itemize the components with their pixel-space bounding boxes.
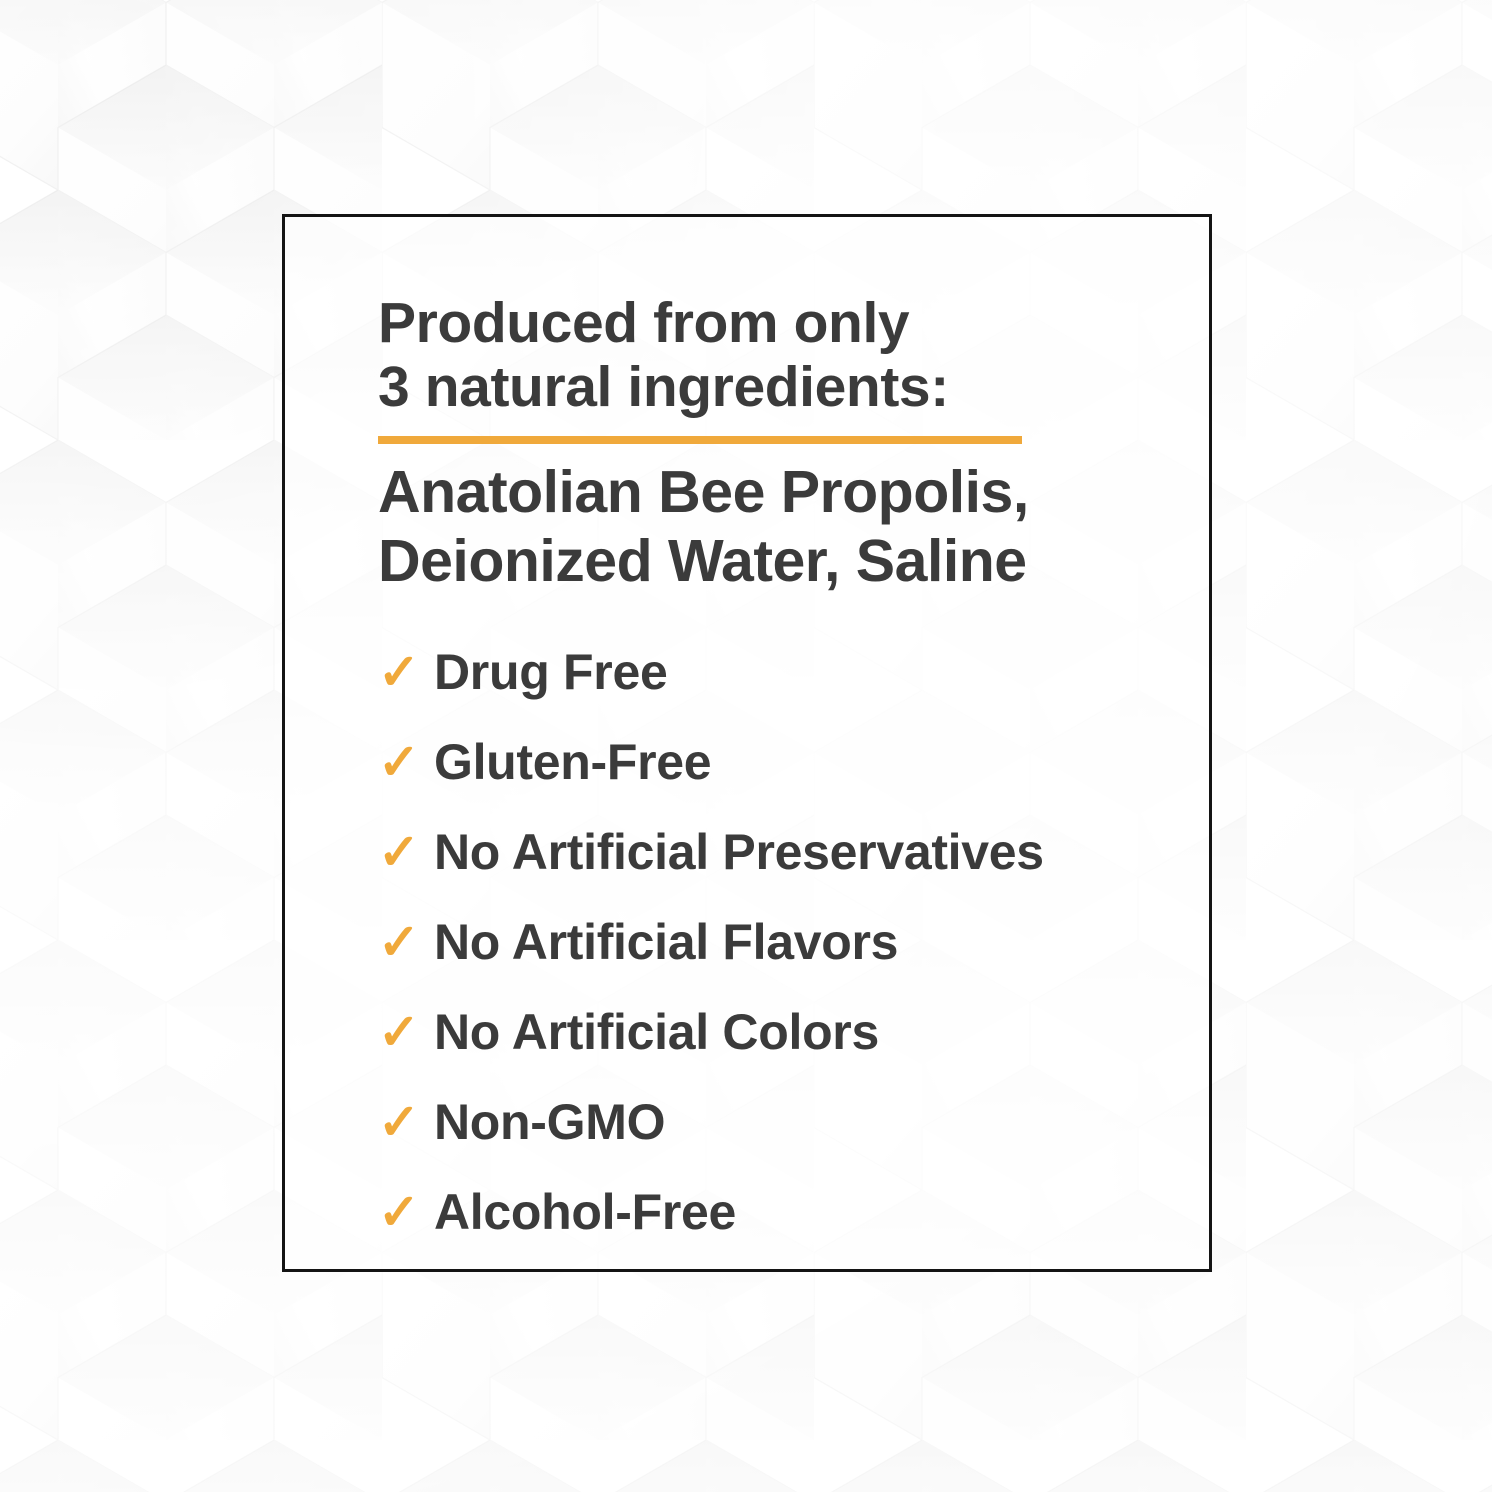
- checkmark-icon: ✓: [378, 647, 434, 697]
- ingredients-info-panel: Produced from only 3 natural ingredients…: [282, 214, 1212, 1272]
- panel-content: Produced from only 3 natural ingredients…: [378, 292, 1199, 1277]
- benefits-checklist: ✓ Drug Free ✓ Gluten-Free ✓ No Artificia…: [378, 647, 1199, 1277]
- list-item: ✓ Drug Free: [378, 647, 1199, 737]
- checkmark-icon: ✓: [378, 1097, 434, 1147]
- ingredients-line-2: Deionized Water, Saline: [378, 527, 1199, 597]
- list-item: ✓ Alcohol-Free: [378, 1187, 1199, 1277]
- checkmark-icon: ✓: [378, 737, 434, 787]
- ingredients-list: Anatolian Bee Propolis, Deionized Water,…: [378, 458, 1199, 597]
- list-item-label: Non-GMO: [434, 1097, 665, 1147]
- page-title-line-1: Produced from only: [378, 292, 1199, 356]
- list-item: ✓ Gluten-Free: [378, 737, 1199, 827]
- accent-divider: [378, 436, 1022, 444]
- list-item: ✓ Non-GMO: [378, 1097, 1199, 1187]
- list-item-label: No Artificial Colors: [434, 1007, 879, 1057]
- list-item-label: Alcohol-Free: [434, 1187, 736, 1237]
- checkmark-icon: ✓: [378, 1187, 434, 1237]
- checkmark-icon: ✓: [378, 1007, 434, 1057]
- list-item: ✓ No Artificial Preservatives: [378, 827, 1199, 917]
- checkmark-icon: ✓: [378, 917, 434, 967]
- list-item: ✓ No Artificial Colors: [378, 1007, 1199, 1097]
- list-item-label: Gluten-Free: [434, 737, 711, 787]
- page-title-line-2: 3 natural ingredients:: [378, 356, 1199, 420]
- list-item-label: No Artificial Flavors: [434, 917, 898, 967]
- checkmark-icon: ✓: [378, 827, 434, 877]
- page-title: Produced from only 3 natural ingredients…: [378, 292, 1199, 420]
- list-item: ✓ No Artificial Flavors: [378, 917, 1199, 1007]
- list-item-label: Drug Free: [434, 647, 667, 697]
- ingredients-line-1: Anatolian Bee Propolis,: [378, 458, 1199, 528]
- list-item-label: No Artificial Preservatives: [434, 827, 1044, 877]
